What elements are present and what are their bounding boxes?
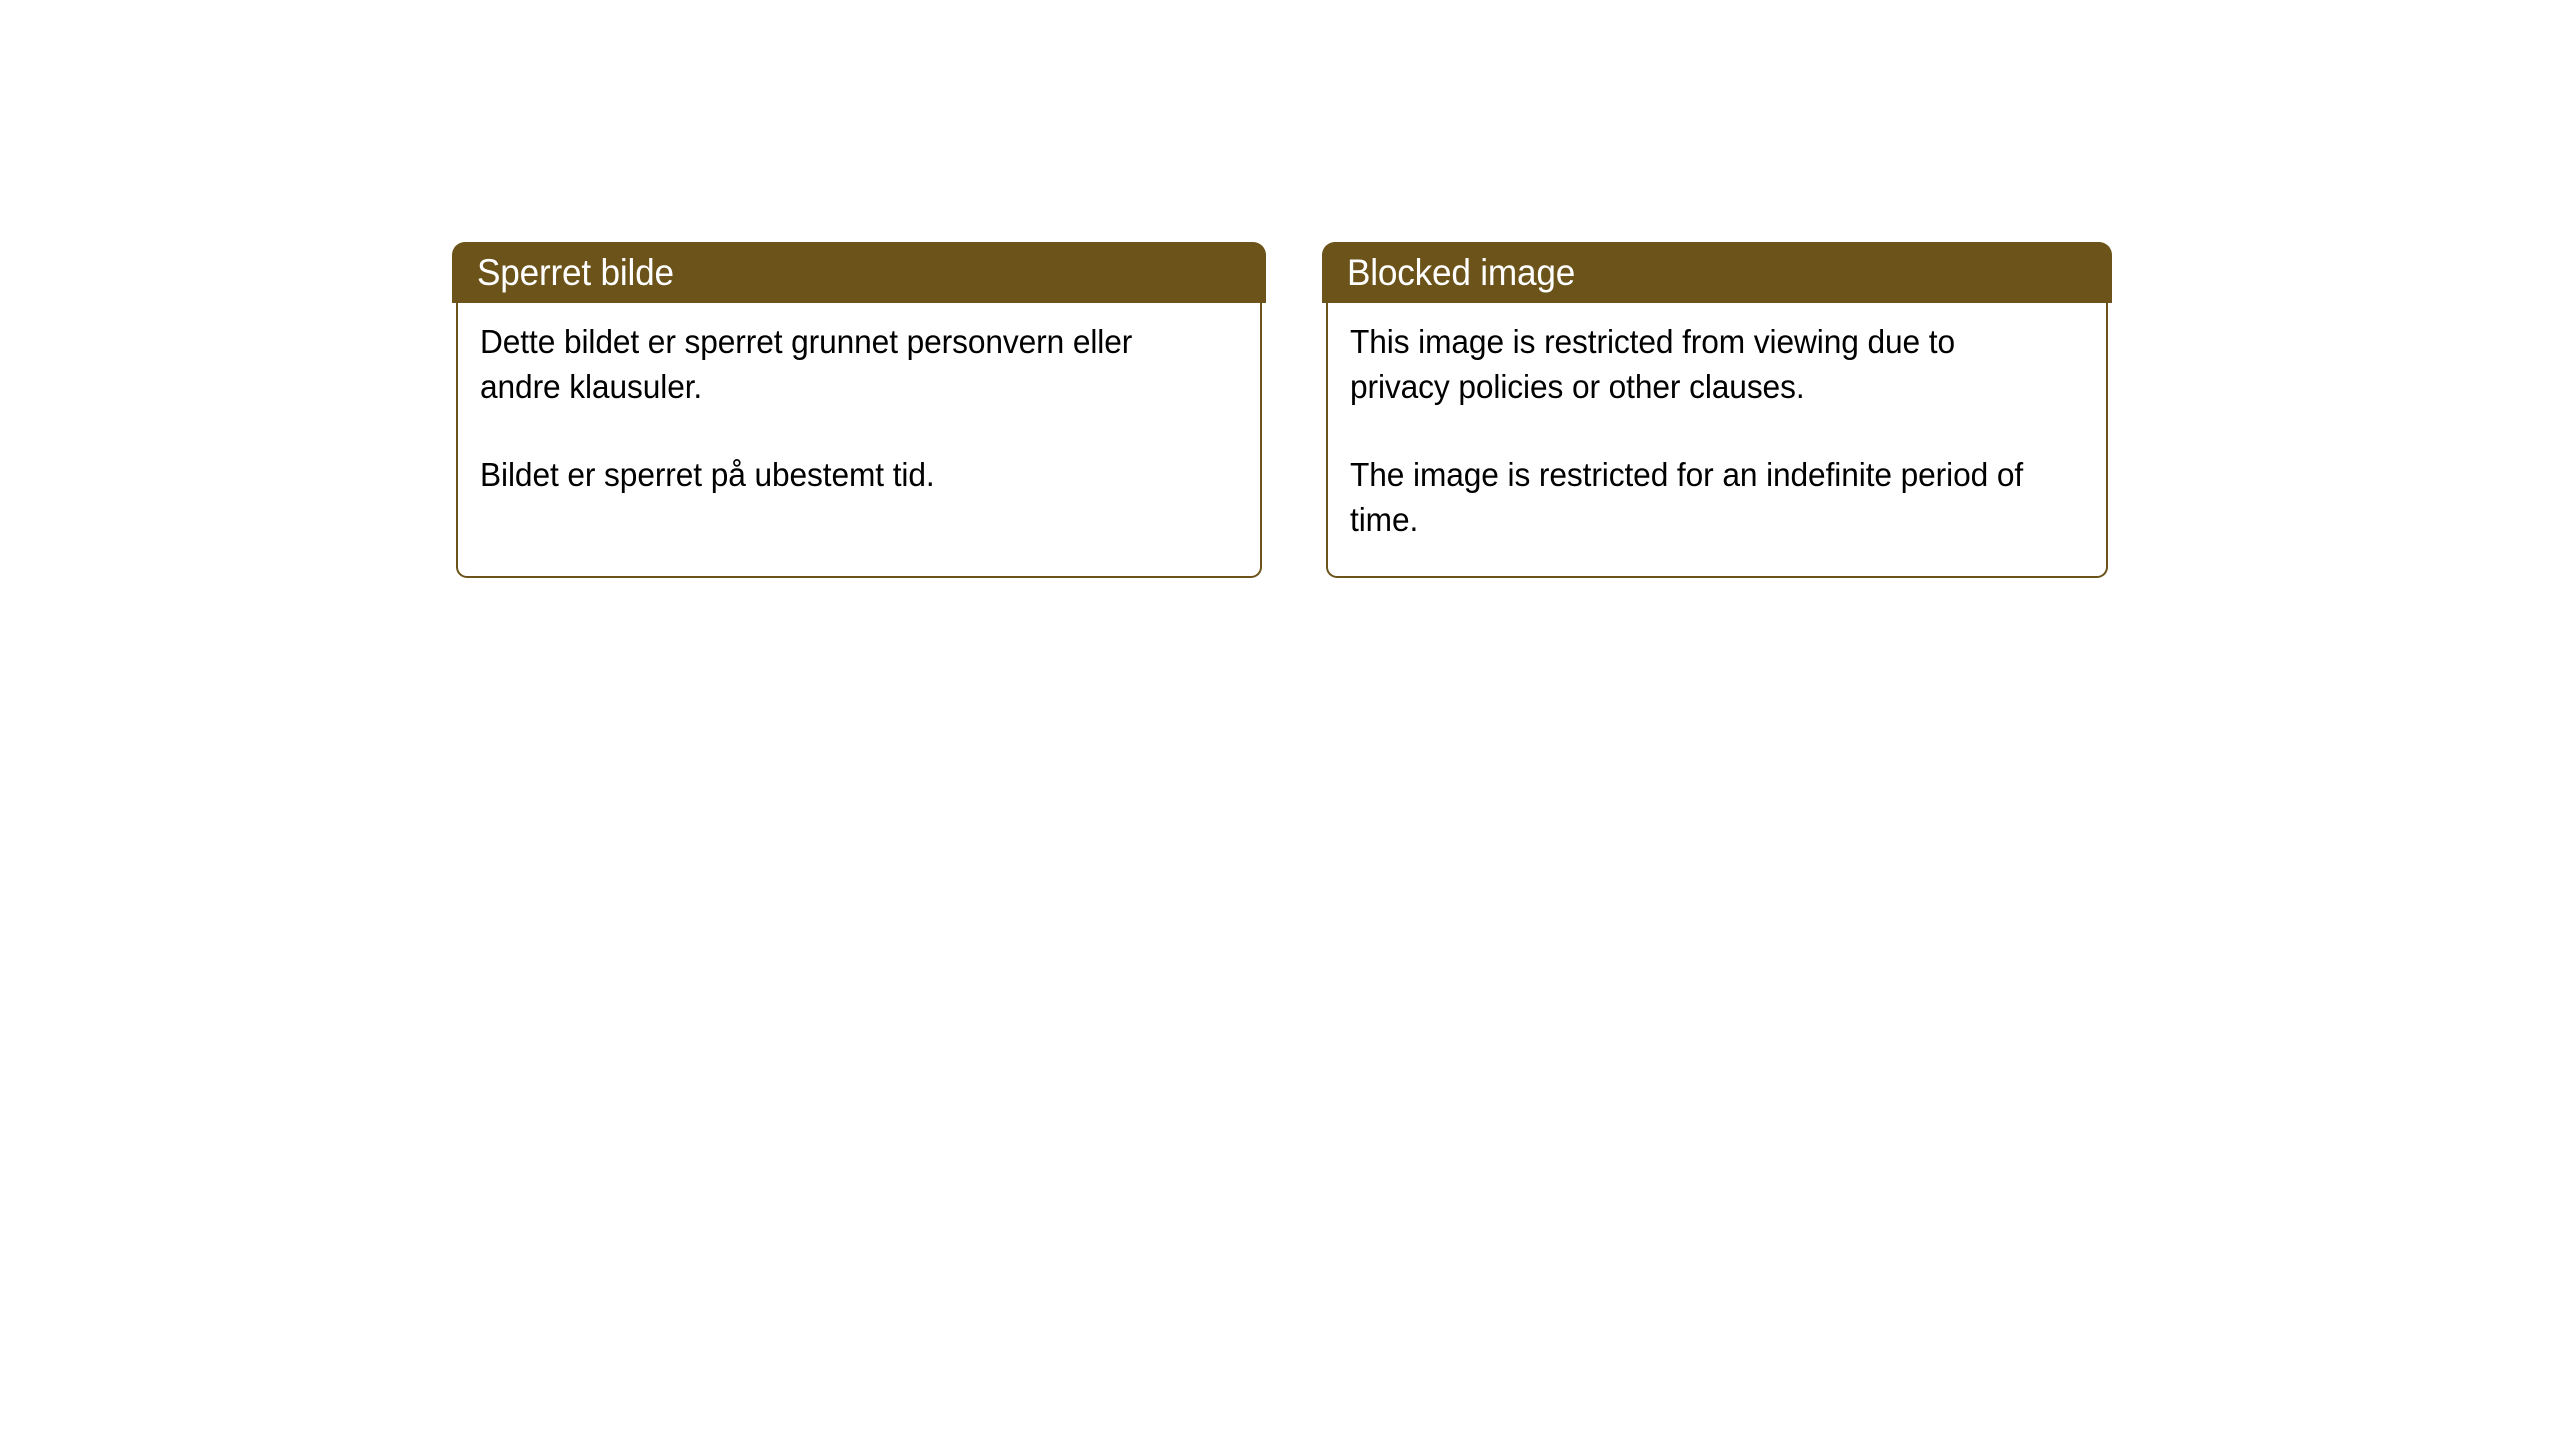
card-body-en: This image is restricted from viewing du… — [1326, 302, 2108, 578]
card-title-no: Sperret bilde — [477, 253, 674, 293]
blocked-image-notice-card-no: Sperret bilde Dette bildet er sperret gr… — [452, 242, 1266, 578]
card-paragraph-en-2: The image is restricted for an indefinit… — [1350, 452, 2055, 542]
card-paragraph-no-2: Bildet er sperret på ubestemt tid. — [480, 452, 1208, 497]
card-paragraph-no-1: Dette bildet er sperret grunnet personve… — [480, 319, 1208, 409]
card-paragraph-en-1: This image is restricted from viewing du… — [1350, 319, 2055, 409]
card-header-en: Blocked image — [1322, 242, 2112, 303]
card-title-en: Blocked image — [1347, 253, 1575, 293]
card-header-no: Sperret bilde — [452, 242, 1266, 303]
blocked-image-notice-card-en: Blocked image This image is restricted f… — [1322, 242, 2112, 578]
card-body-no: Dette bildet er sperret grunnet personve… — [456, 302, 1262, 578]
page-root: Sperret bilde Dette bildet er sperret gr… — [0, 0, 2560, 1440]
